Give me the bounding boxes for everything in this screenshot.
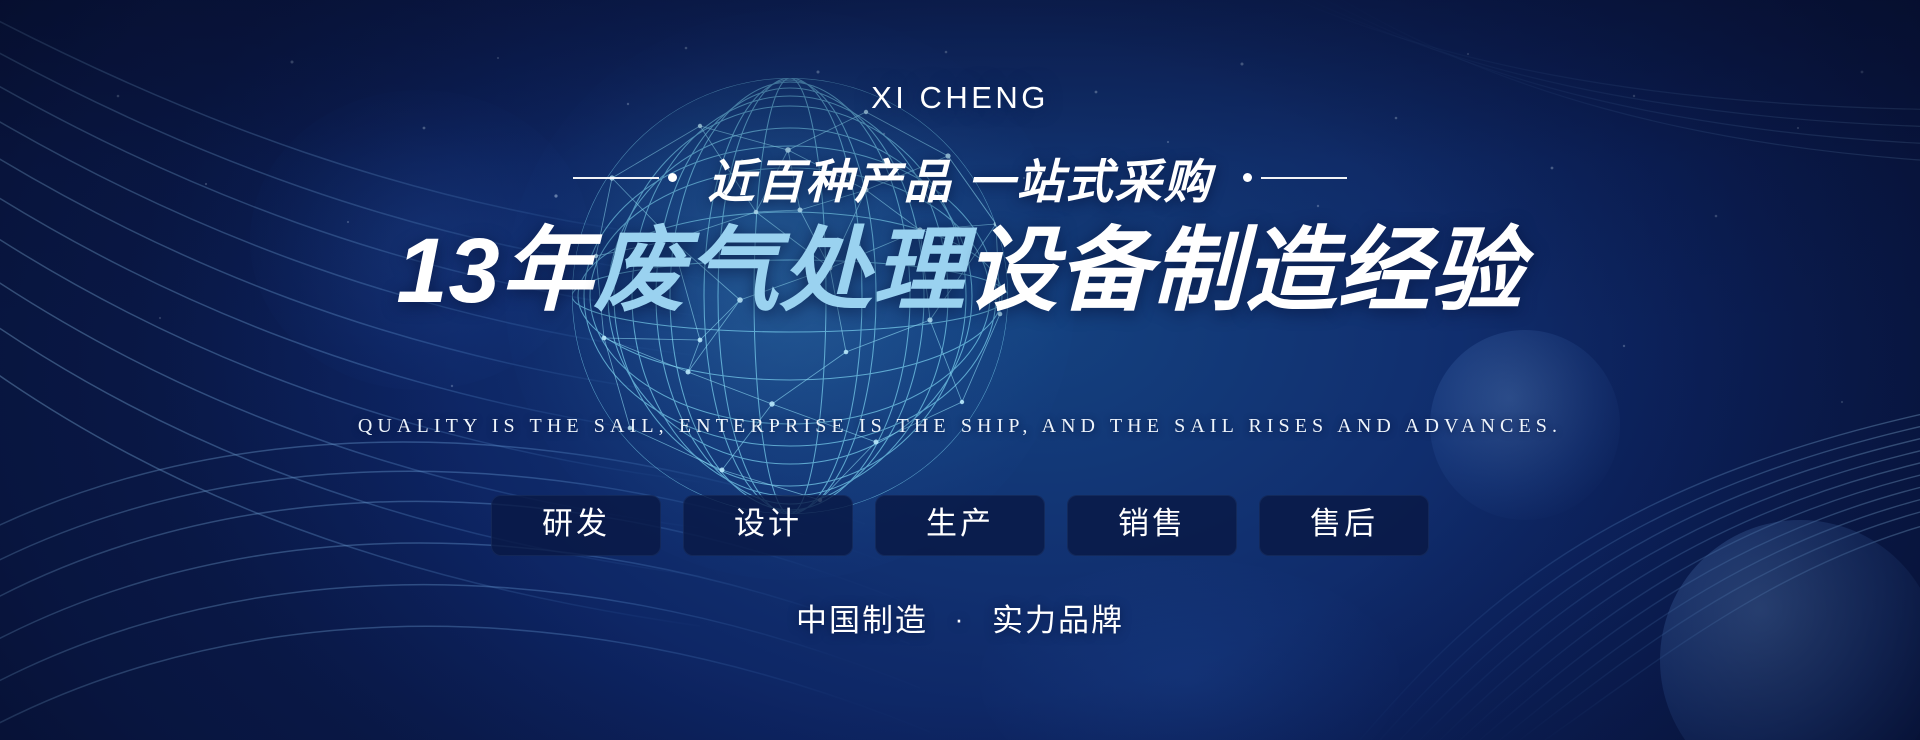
headline: 13年废气处理设备制造经验: [0, 222, 1920, 321]
brand-eyebrow: XI CHENG: [0, 80, 1920, 116]
left-decoration: [573, 173, 677, 182]
footnote-row: 中国制造 · 实力品牌: [0, 595, 1920, 640]
right-dot-icon: [1243, 173, 1252, 182]
subtitle-row: 近百种产品 一站式采购: [0, 143, 1920, 212]
english-tagline: QUALITY IS THE SAIL, ENTERPRISE IS THE S…: [0, 415, 1920, 438]
subtitle-text: 近百种产品 一站式采购: [707, 143, 1212, 212]
right-rule-line: [1261, 177, 1347, 179]
service-pill-rd[interactable]: 研发: [491, 495, 661, 556]
headline-accent: 废气处理: [594, 220, 966, 322]
left-rule-line: [573, 177, 659, 179]
service-pill-row: 研发 设计 生产 销售 售后: [0, 495, 1920, 556]
service-pill-production[interactable]: 生产: [875, 495, 1045, 556]
footnote-left: 中国制造: [796, 603, 928, 638]
right-decoration: [1243, 173, 1347, 182]
banner-content: XI CHENG 近百种产品 一站式采购 13年废气处理设备制造经验 QUALI…: [0, 0, 1920, 740]
footnote-separator-icon: ·: [939, 604, 982, 634]
service-pill-sales[interactable]: 销售: [1067, 495, 1237, 556]
hero-banner: XI CHENG 近百种产品 一站式采购 13年废气处理设备制造经验 QUALI…: [0, 0, 1920, 740]
headline-part-1: 13年: [396, 220, 593, 322]
service-pill-design[interactable]: 设计: [683, 495, 853, 556]
headline-part-2: 设备制造经验: [966, 220, 1524, 322]
left-dot-icon: [668, 173, 677, 182]
footnote-right: 实力品牌: [992, 603, 1124, 638]
service-pill-aftersales[interactable]: 售后: [1259, 495, 1429, 556]
